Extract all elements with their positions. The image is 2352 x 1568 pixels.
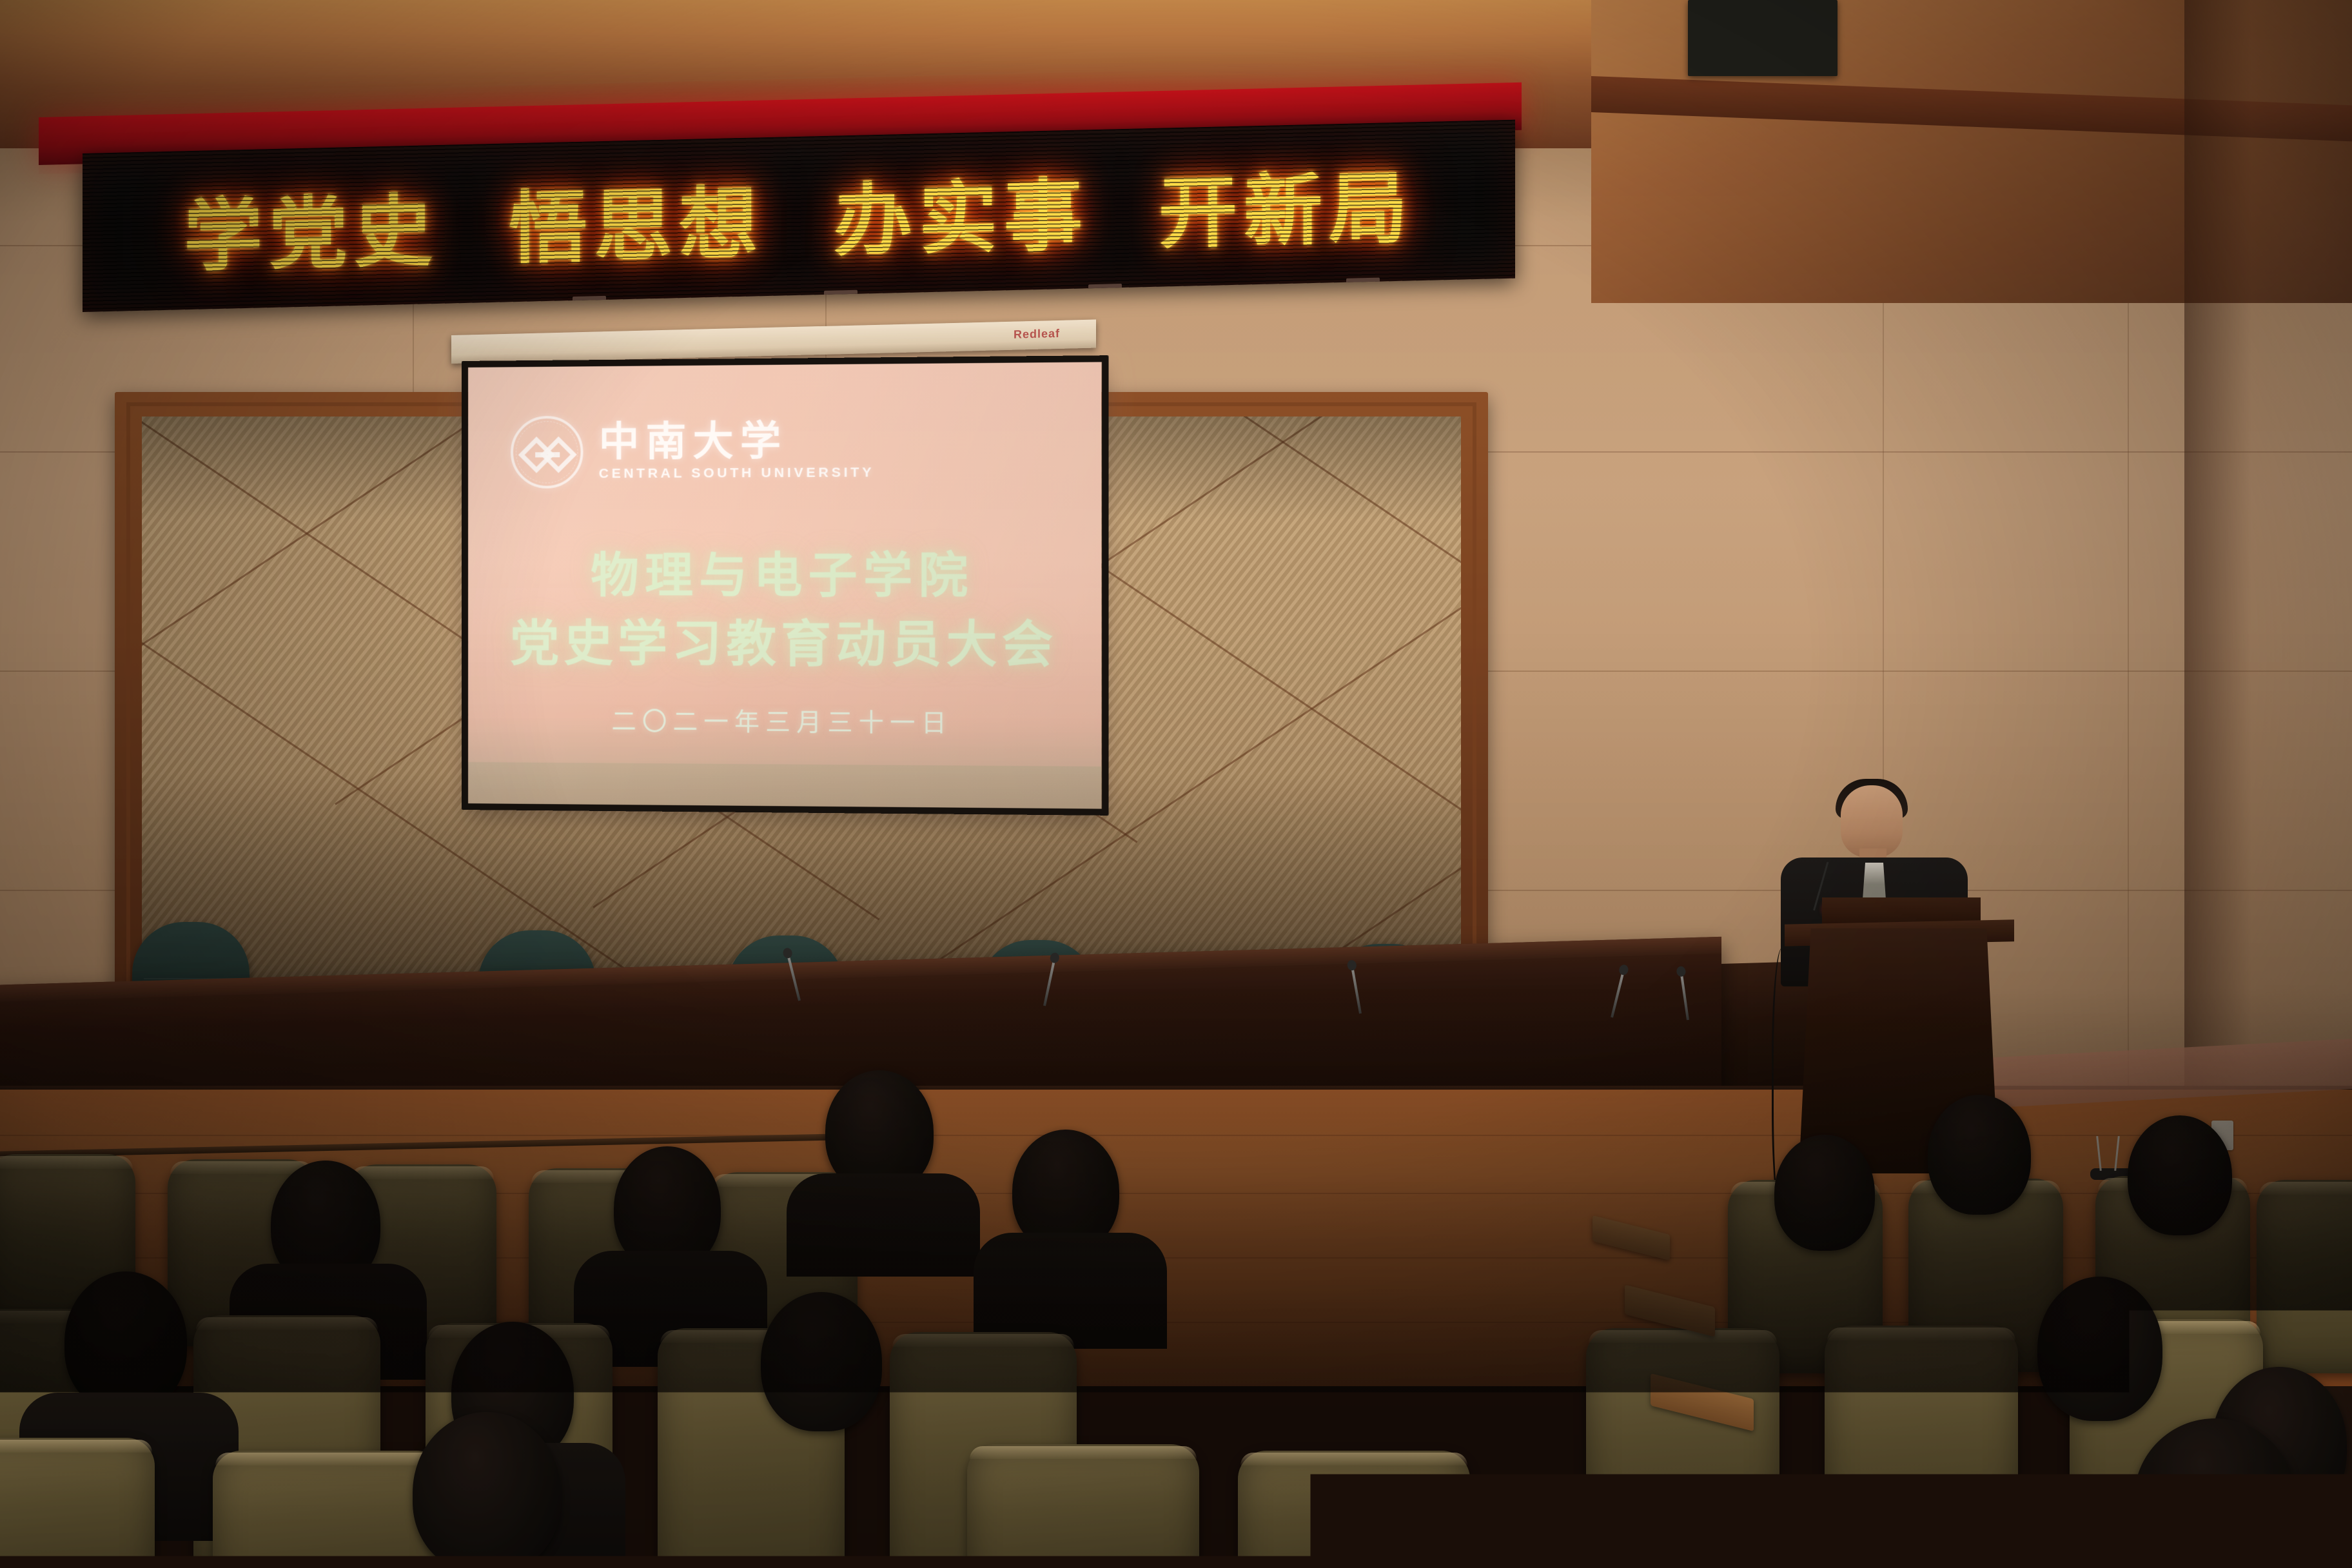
- slide-logo-row: 中南大学 CENTRAL SOUTH UNIVERSITY: [511, 414, 874, 489]
- university-emblem-icon: [511, 416, 583, 489]
- university-name-cn: 中南大学: [599, 420, 874, 462]
- presenter-head: [1841, 785, 1903, 857]
- audience-seat: [1238, 1451, 1470, 1568]
- screen-bottom-strip: [468, 762, 1101, 810]
- projection-screen: 中南大学 CENTRAL SOUTH UNIVERSITY 物理与电子学院 党史…: [468, 361, 1101, 810]
- audience-head: [1928, 1095, 2031, 1215]
- audience-seat: [2257, 1180, 2352, 1373]
- university-name-en: CENTRAL SOUTH UNIVERSITY: [599, 465, 874, 482]
- audience-head: [64, 1271, 187, 1412]
- audience-seat: [213, 1451, 445, 1568]
- led-phrase-1: 学党史: [184, 167, 439, 287]
- audience-seat: [967, 1444, 1199, 1568]
- screen-brand-label: Redleaf: [1014, 327, 1060, 342]
- audience-shoulders: [787, 1173, 980, 1277]
- slide-title: 物理与电子学院 党史学习教育动员大会: [468, 546, 1101, 676]
- led-scrolling-banner: 学党史 悟思想 办实事 开新局: [83, 120, 1515, 312]
- audience-head: [761, 1292, 882, 1431]
- audience-head: [1774, 1135, 1875, 1251]
- slide-title-line-1: 物理与电子学院: [468, 546, 1101, 606]
- led-phrase-2: 悟思想: [509, 159, 764, 279]
- slide-date: 二〇二一年三月三十一日: [468, 700, 1101, 740]
- led-phrase-3: 办实事: [834, 152, 1089, 271]
- audience-seat: [1825, 1326, 2018, 1568]
- audience-head: [2037, 1277, 2162, 1421]
- audience-head: [413, 1412, 561, 1568]
- audience-seat: [1586, 1328, 1779, 1568]
- led-banner-text: 学党史 悟思想 办实事 开新局: [83, 142, 1515, 289]
- led-phrase-4: 开新局: [1159, 144, 1414, 264]
- slide-title-line-2: 党史学习教育动员大会: [468, 614, 1101, 676]
- audience-head: [2134, 1418, 2295, 1568]
- auditorium-photo: 学党史 悟思想 办实事 开新局 Redleaf: [0, 0, 2352, 1568]
- audience-seat: [0, 1438, 155, 1568]
- ceiling-loudspeaker-icon: [1688, 0, 1837, 76]
- audience-shoulders: [974, 1233, 1167, 1349]
- audience-head: [2128, 1115, 2232, 1235]
